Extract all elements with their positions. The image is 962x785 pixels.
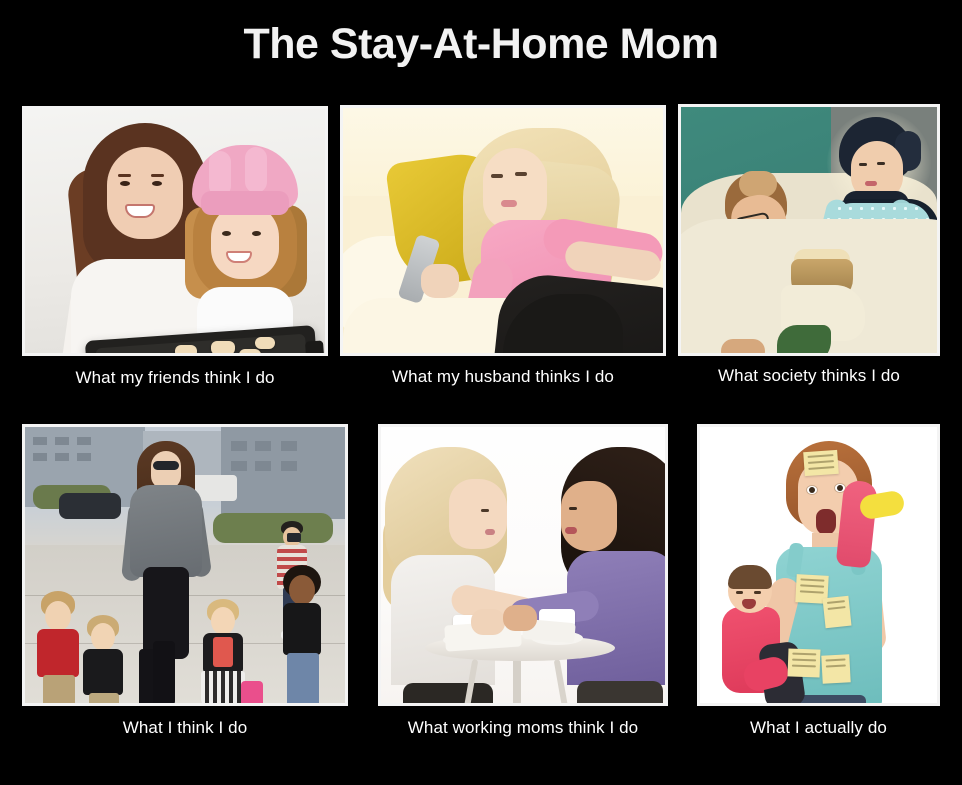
sticky-note (803, 450, 839, 476)
sticky-note (821, 654, 850, 683)
caption-i-think: What I think I do (22, 718, 348, 738)
photo-frazzled-mom (700, 427, 937, 703)
panel-i-think: What I think I do (22, 424, 348, 706)
meme-image: The Stay-At-Home Mom (0, 0, 962, 785)
panel-frame (678, 104, 940, 356)
meme-title: The Stay-At-Home Mom (0, 22, 962, 67)
panel-frame (22, 106, 328, 356)
panel-actually: What I actually do (697, 424, 940, 706)
panel-husband: What my husband thinks I do (340, 105, 666, 356)
caption-actually: What I actually do (697, 718, 940, 738)
caption-society: What society thinks I do (678, 366, 940, 386)
photo-vintage-housewife (681, 107, 937, 353)
panel-society: What society thinks I do (678, 104, 940, 356)
photo-friends-baking (25, 109, 325, 353)
panel-frame (697, 424, 940, 706)
panel-frame (340, 105, 666, 356)
panel-frame (378, 424, 668, 706)
photo-women-having-coffee (381, 427, 665, 703)
sticky-note (823, 596, 852, 629)
caption-working-moms: What working moms think I do (378, 718, 668, 738)
panel-frame (22, 424, 348, 706)
photo-mom-walking-with-kids (25, 427, 345, 703)
caption-husband: What my husband thinks I do (340, 367, 666, 387)
panel-working-moms: What working moms think I do (378, 424, 668, 706)
sticky-note (788, 648, 821, 677)
photo-woman-on-sofa (343, 108, 663, 353)
panel-friends: What my friends think I do (22, 106, 328, 356)
caption-friends: What my friends think I do (22, 368, 328, 388)
